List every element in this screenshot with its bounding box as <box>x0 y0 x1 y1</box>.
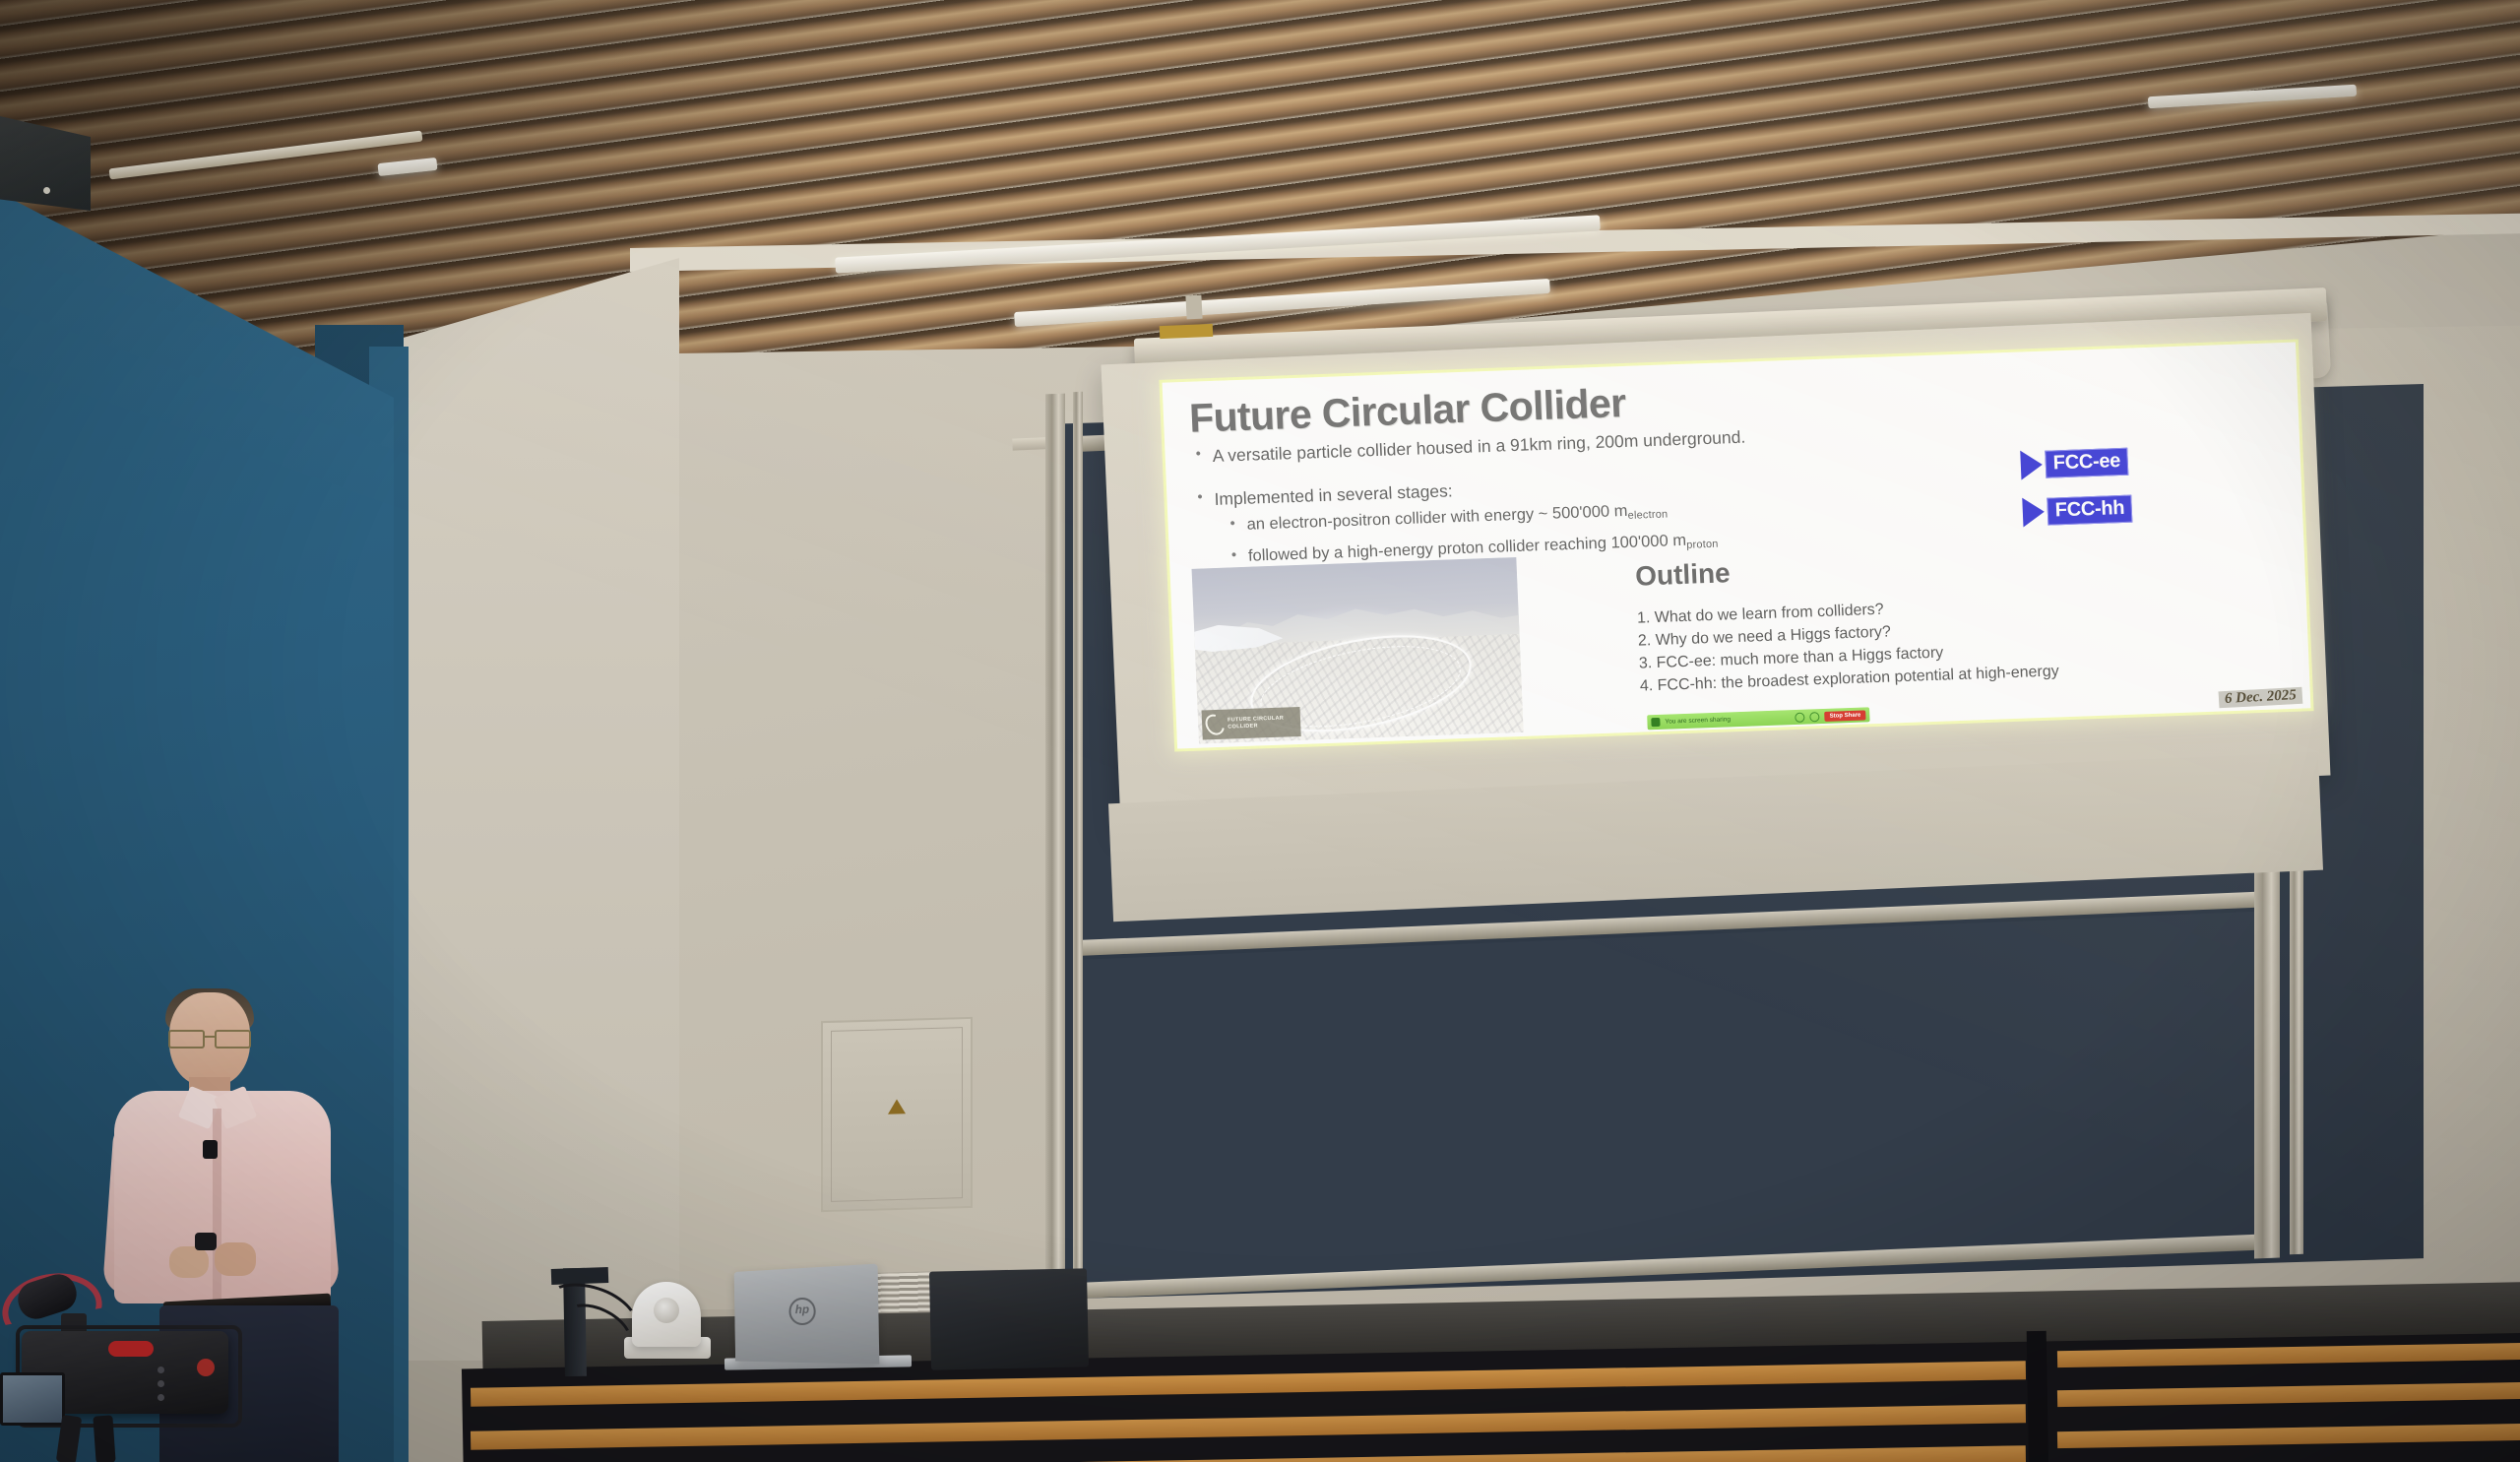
annotate-icon[interactable] <box>1809 712 1819 722</box>
screen-brand-label <box>1160 324 1213 339</box>
slide-subbullet-2-subscript: proton <box>1686 539 1719 551</box>
slide-bullet-2: Implemented in several stages: <box>1214 480 1453 510</box>
outline-item-1: 1. What do we learn from colliders? <box>1637 602 1884 628</box>
fcc-aerial-render: FUTURE CIRCULAR COLLIDER <box>1192 557 1524 744</box>
warning-triangle-icon <box>888 1100 906 1115</box>
side-wall-pale <box>374 258 679 1361</box>
lecture-hall-scene: Future Circular Collider A versatile par… <box>0 0 2520 1462</box>
pause-icon[interactable] <box>1795 712 1804 722</box>
screen-mount-bracket <box>1185 295 1202 320</box>
electrical-panel-inset <box>831 1027 963 1202</box>
laptop: hp <box>734 1264 880 1365</box>
tripod-leg <box>93 1415 115 1462</box>
stop-share-button[interactable]: Stop Share <box>1824 710 1865 721</box>
share-status-text: You are screen sharing <box>1665 714 1791 726</box>
speaker-led-icon <box>43 187 50 194</box>
camera-button <box>157 1367 164 1373</box>
camera-dial <box>197 1359 215 1376</box>
desk-panel-gap <box>2027 1331 2049 1462</box>
projected-slide-area: Future Circular Collider A versatile par… <box>1163 343 2311 749</box>
slide-date-stamp: 6 Dec. 2025 <box>2219 687 2303 708</box>
electrical-panel <box>821 1017 973 1212</box>
record-button <box>108 1341 154 1357</box>
phone-icon <box>1651 718 1660 727</box>
outline-heading: Outline <box>1635 557 1732 592</box>
secondary-display <box>929 1268 1089 1369</box>
fcc-ee-tag: FCC-ee <box>2020 447 2128 480</box>
outline-item-2: 2. Why do we need a Higgs factory? <box>1638 623 1892 650</box>
camera-button <box>157 1394 164 1401</box>
triangle-arrow-icon <box>2022 497 2045 528</box>
fcc-logo: FUTURE CIRCULAR COLLIDER <box>1202 707 1301 740</box>
fcc-logo-mark-icon <box>1202 711 1228 738</box>
camera-lens-icon <box>654 1298 679 1323</box>
fcc-hh-tag: FCC-hh <box>2022 494 2133 528</box>
blackboard-rail-left <box>1045 394 1065 1301</box>
glasses-bridge <box>203 1036 217 1038</box>
fcc-ee-label: FCC-ee <box>2045 448 2128 478</box>
hp-logo-icon: hp <box>788 1298 816 1326</box>
presenter-clicker <box>195 1233 217 1250</box>
slide-subbullet-1-text: an electron-positron collider with energ… <box>1246 502 1628 534</box>
glasses-icon <box>167 1030 252 1045</box>
blackboard-panel-lower <box>1083 911 2264 1284</box>
fcc-hh-label: FCC-hh <box>2047 495 2133 526</box>
slide-subbullet-1-subscript: electron <box>1627 508 1668 521</box>
slide: Future Circular Collider A versatile par… <box>1163 343 2311 749</box>
camera-lcd-screen <box>0 1372 65 1426</box>
lapel-microphone <box>203 1140 218 1159</box>
triangle-arrow-icon <box>2020 450 2043 480</box>
blackboard-rail-left-inner <box>1073 392 1083 1298</box>
monitor-top-edge <box>551 1267 609 1285</box>
camera-button <box>157 1380 164 1387</box>
foreground-camera-rig <box>0 1268 236 1462</box>
fcc-logo-text: FUTURE CIRCULAR COLLIDER <box>1228 715 1296 731</box>
